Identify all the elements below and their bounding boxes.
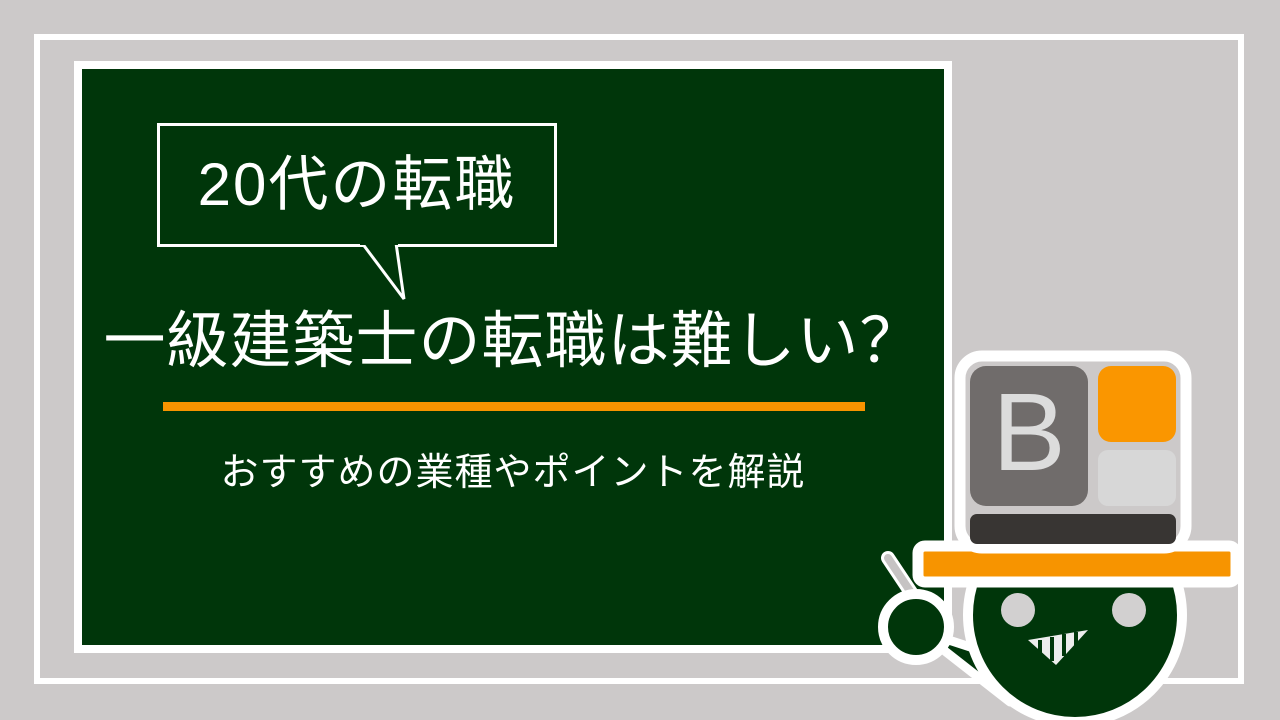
slide-canvas: 20代の転職 一級建築士の転職は難しい？ おすすめの業種やポイントを解説 <box>0 0 1280 720</box>
logo-tile-light <box>1098 450 1176 506</box>
hat-band <box>970 514 1176 544</box>
speech-bubble-label: 20代の転職 <box>160 126 554 244</box>
right-eye <box>1112 593 1146 627</box>
mascot-character: B <box>860 330 1280 720</box>
title-divider <box>163 402 865 411</box>
logo-tile-orange <box>1098 366 1176 442</box>
speech-bubble-tail <box>354 241 414 299</box>
logo-letter-b: B <box>992 371 1065 494</box>
left-eye <box>1001 593 1035 627</box>
page-title: 一級建築士の転職は難しい？ <box>82 309 944 374</box>
magnifier-lens <box>883 594 949 660</box>
blackboard-panel: 20代の転職 一級建築士の転職は難しい？ おすすめの業種やポイントを解説 <box>82 69 944 645</box>
page-subtitle: おすすめの業種やポイントを解説 <box>82 454 944 492</box>
speech-bubble: 20代の転職 <box>157 123 557 247</box>
